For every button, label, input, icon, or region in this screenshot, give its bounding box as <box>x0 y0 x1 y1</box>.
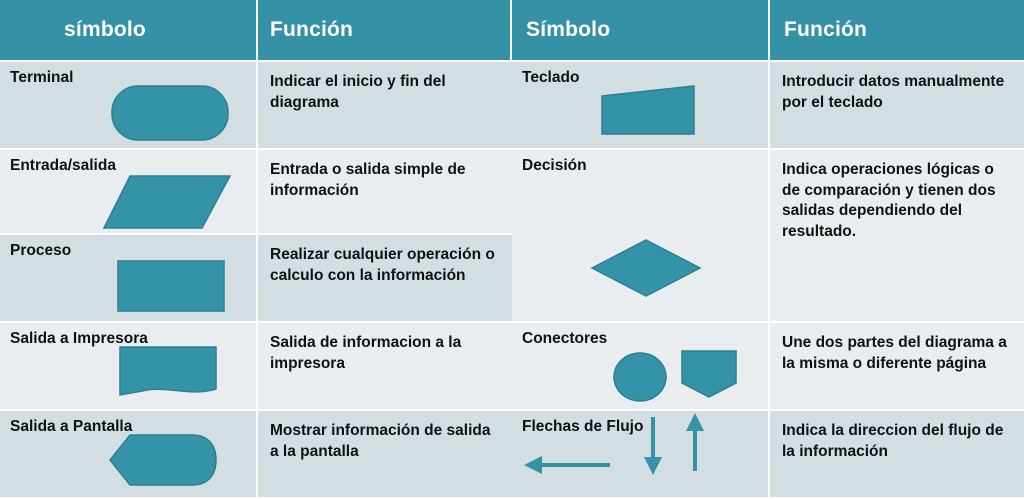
function-cell: Mostrar información de salida a la panta… <box>258 411 512 497</box>
symbol-label: Proceso <box>10 242 256 261</box>
function-cell: Indica la direccion del flujo de la info… <box>770 411 1024 497</box>
table-body: Terminal Indicar el inicio y fin del dia… <box>0 62 1024 499</box>
symbol-cell-salida-pantalla: Salida a Pantalla <box>0 411 258 497</box>
symbol-cell-flechas-flujo: Flechas de Flujo <box>512 411 770 497</box>
symbol-cell-proceso: Proceso <box>0 235 258 321</box>
table-row: Decisión Indica operaciones lógicas o de… <box>512 150 1024 323</box>
table-header-row: símbolo Función Símbolo Función <box>0 0 1024 62</box>
table-row: Teclado Introducir datos manualmente por… <box>512 62 1024 150</box>
header-label: símbolo <box>64 18 146 42</box>
right-table: Teclado Introducir datos manualmente por… <box>512 62 1024 499</box>
header-cell-simbolo-right: Símbolo <box>512 0 770 60</box>
function-cell: Realizar cualquier operación o calculo c… <box>258 235 512 321</box>
function-cell: Salida de informacion a la impresora <box>258 323 512 409</box>
header-label: Símbolo <box>526 18 610 42</box>
table-row: Entrada/salida Entrada o salida simple d… <box>0 150 512 235</box>
shape-diamond-icon <box>512 150 770 321</box>
header-cell-funcion-left: Función <box>258 0 512 60</box>
table-row: Terminal Indicar el inicio y fin del dia… <box>0 62 512 150</box>
symbol-cell-salida-impresora: Salida a Impresora <box>0 323 258 409</box>
symbol-cell-conectores: Conectores <box>512 323 770 409</box>
table-row: Salida a Impresora Salida de informacion… <box>0 323 512 411</box>
function-cell: Introducir datos manualmente por el tecl… <box>770 62 1024 148</box>
table-row: Conectores Une dos partes del diagrama a… <box>512 323 1024 411</box>
symbol-label: Decisión <box>522 157 768 176</box>
symbol-cell-entrada-salida: Entrada/salida <box>0 150 258 233</box>
header-label: Función <box>784 18 867 42</box>
header-cell-funcion-right: Función <box>770 0 1024 60</box>
table-row: Flechas de Flujo <box>512 411 1024 497</box>
function-cell: Indicar el inicio y fin del diagrama <box>258 62 512 148</box>
function-cell: Une dos partes del diagrama a la misma o… <box>770 323 1024 409</box>
symbol-label: Entrada/salida <box>10 157 256 176</box>
symbol-label: Salida a Pantalla <box>10 418 256 437</box>
symbol-cell-teclado: Teclado <box>512 62 770 148</box>
symbol-label: Teclado <box>522 69 768 88</box>
flowchart-symbols-table: símbolo Función Símbolo Función Terminal <box>0 0 1024 499</box>
function-cell: Indica operaciones lógicas o de comparac… <box>770 150 1024 321</box>
symbol-label: Flechas de Flujo <box>522 418 768 437</box>
symbol-cell-terminal: Terminal <box>0 62 258 148</box>
left-table: Terminal Indicar el inicio y fin del dia… <box>0 62 512 499</box>
symbol-label: Terminal <box>10 69 256 88</box>
symbol-cell-decision: Decisión <box>512 150 770 321</box>
header-label: Función <box>270 18 353 42</box>
symbol-label: Salida a Impresora <box>10 330 256 349</box>
function-cell: Entrada o salida simple de información <box>258 150 512 233</box>
symbol-label: Conectores <box>522 330 768 349</box>
table-row: Proceso Realizar cualquier operación o c… <box>0 235 512 323</box>
header-cell-simbolo-left: símbolo <box>0 0 258 60</box>
table-row: Salida a Pantalla Mostrar información de… <box>0 411 512 497</box>
